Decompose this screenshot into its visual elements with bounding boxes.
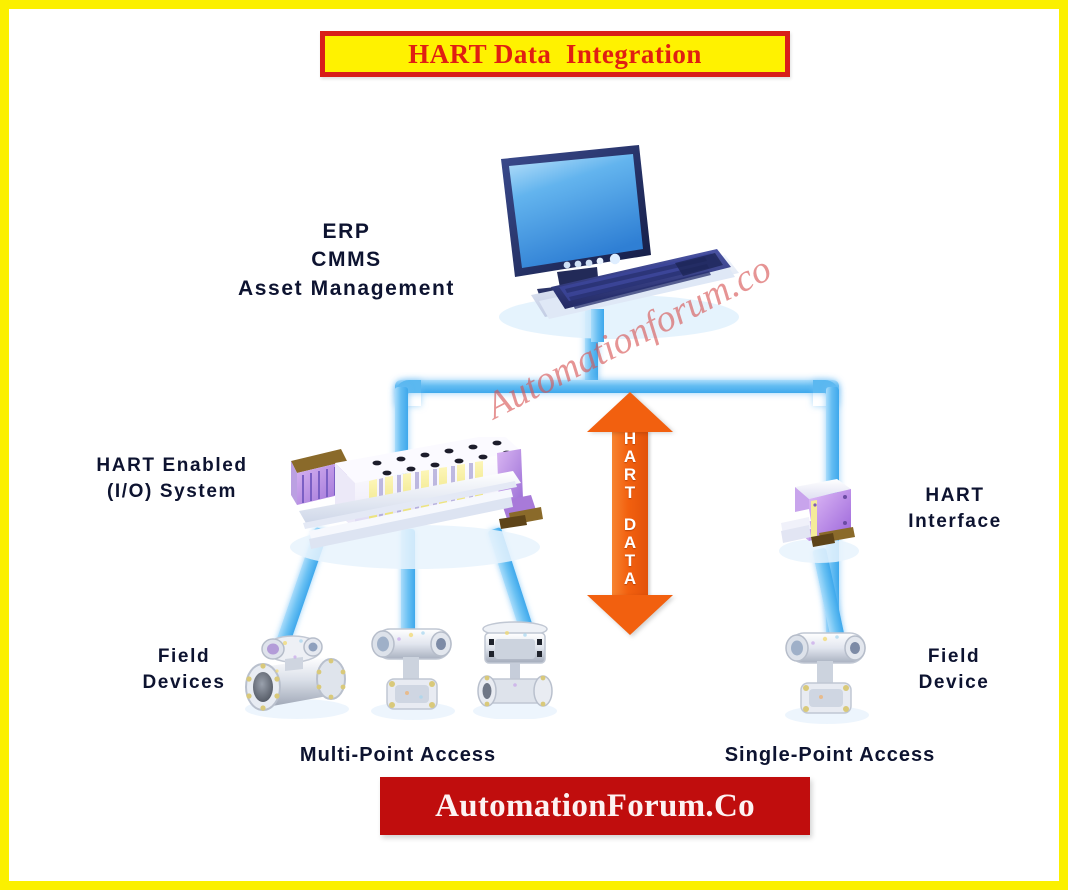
diagram-title: HART Data Integration: [320, 31, 790, 77]
site-name-text: AutomationForum.Co: [435, 788, 755, 825]
site-watermark-banner: AutomationForum.Co: [380, 777, 810, 835]
pressure-transmitter-icon: [361, 617, 465, 721]
hart-io-rack-icon: [285, 437, 543, 575]
label-single-point-access: Single-Point Access: [685, 742, 975, 769]
label-field-device: Field Device: [875, 644, 1033, 695]
hart-data-arrow: H A R T D A T A: [587, 392, 673, 635]
arrow-letter: T: [625, 484, 635, 502]
arrow-letter: A: [624, 448, 636, 466]
label-multi-point-access: Multi-Point Access: [253, 742, 543, 769]
control-valve-icon: [467, 619, 563, 719]
arrow-letter: R: [624, 466, 636, 484]
arrow-letter: A: [624, 570, 636, 588]
arrow-letter: T: [625, 552, 635, 570]
label-hart-interface: HART Interface: [875, 483, 1035, 534]
label-erp-cmms-asset-management: ERP CMMS Asset Management: [194, 218, 499, 303]
hart-interface-module-icon: [775, 471, 861, 567]
diagram-title-text: HART Data Integration: [408, 39, 702, 70]
arrow-letter: A: [624, 534, 636, 552]
diagram-canvas: HART Data Integration: [0, 0, 1068, 890]
label-hart-enabled-io-system: HART Enabled (I/O) System: [67, 453, 277, 504]
arrow-letter: H: [624, 430, 636, 448]
arrow-label: H A R T D A T A: [587, 424, 673, 604]
computer-workstation-icon: [479, 137, 759, 342]
label-field-devices: Field Devices: [105, 644, 263, 695]
arrow-letter: D: [624, 516, 636, 534]
pressure-transmitter-icon-single: [775, 621, 879, 725]
